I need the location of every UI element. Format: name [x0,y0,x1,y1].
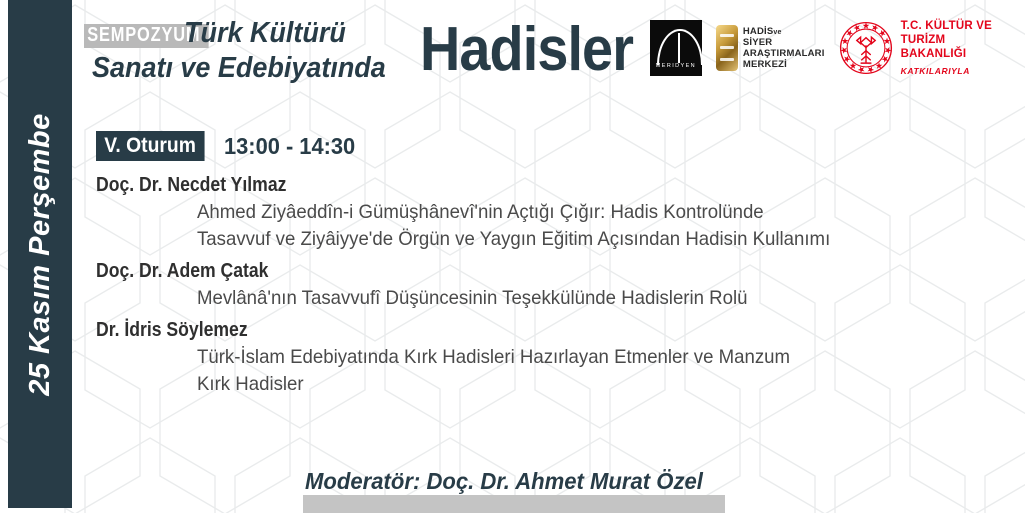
page-title: Hadisler [420,19,633,81]
talk-title-line: Ahmed Ziyâeddîn-i Gümüşhânevî'nin Açtığı… [197,199,960,226]
hadis-emblem-icon [716,25,738,71]
title-line-2: Sanatı ve Edebiyatında [92,52,386,85]
talk-title-line: Tasavvuf ve Ziyâiyye'de Örgün ve Yaygın … [197,226,960,253]
speaker-name: Doç. Dr. Necdet Yılmaz [96,172,888,199]
logo-strip: MERIDYEN HADİSve SİYER ARAŞTIRMALARI MER… [650,20,1025,76]
program-list: Doç. Dr. Necdet Yılmaz Ahmed Ziyâeddîn-i… [96,172,996,403]
session-badge: V. Oturum [96,131,204,161]
hadis-line-1: HADİS [743,26,774,37]
bakanlik-support-note: KATKILARIYLA [901,66,1025,76]
session-time: 13:00 - 14:30 [224,133,355,160]
talk-title-line: Mevlânâ'nın Tasavvufî Düşüncesinin Teşek… [197,285,960,312]
bakanlik-logo-text: T.C. KÜLTÜR VE TURİZM BAKANLIĞI KATKILAR… [901,20,1025,76]
talk-title-line: Türk-İslam Edebiyatında Kırk Hadisleri H… [197,344,960,371]
program-entry: Doç. Dr. Adem Çatak Mevlânâ'nın Tasavvuf… [96,258,996,312]
hadis-line-3: ARAŞTIRMALARI [743,48,825,59]
session-header: V. Oturum 13:00 - 14:30 [96,131,362,161]
poster-canvas: 25 Kasım Perşembe SEMPOZYUM Türk Kültürü… [0,0,1025,513]
ministry-seal-icon [839,21,893,75]
sidebar-date-label: 25 Kasım Perşembe [24,113,57,396]
bakanlik-line-2: BAKANLIĞI [901,48,967,60]
hadis-siyer-logo-text: HADİSve SİYER ARAŞTIRMALARI MERKEZİ [743,26,825,71]
hadis-line-4: MERKEZİ [743,59,787,70]
title-line-1: Türk Kültürü [184,17,346,50]
moderator-label: Moderatör: Doç. Dr. Ahmet Murat Özel [305,468,703,495]
talk-title-line: Kırk Hadisler [197,371,960,398]
meridyen-logo: MERIDYEN [650,20,702,76]
date-sidebar: 25 Kasım Perşembe [8,0,72,508]
speaker-name: Dr. İdris Söylemez [96,317,888,344]
hadis-line-1-suffix: ve [773,29,781,36]
hadis-line-2: SİYER [743,37,773,48]
moderator-underline-bar [303,495,725,513]
program-entry: Doç. Dr. Necdet Yılmaz Ahmed Ziyâeddîn-i… [96,172,996,253]
kultur-turizm-bakanligi-logo: T.C. KÜLTÜR VE TURİZM BAKANLIĞI KATKILAR… [839,20,1025,76]
meridyen-logo-label: MERIDYEN [656,63,696,69]
bakanlik-line-1: T.C. KÜLTÜR VE TURİZM [901,20,992,46]
hadis-siyer-logo: HADİSve SİYER ARAŞTIRMALARI MERKEZİ [716,25,825,71]
speaker-name: Doç. Dr. Adem Çatak [96,258,888,285]
dome-arc-icon [657,29,702,65]
program-entry: Dr. İdris Söylemez Türk-İslam Edebiyatın… [96,317,996,398]
